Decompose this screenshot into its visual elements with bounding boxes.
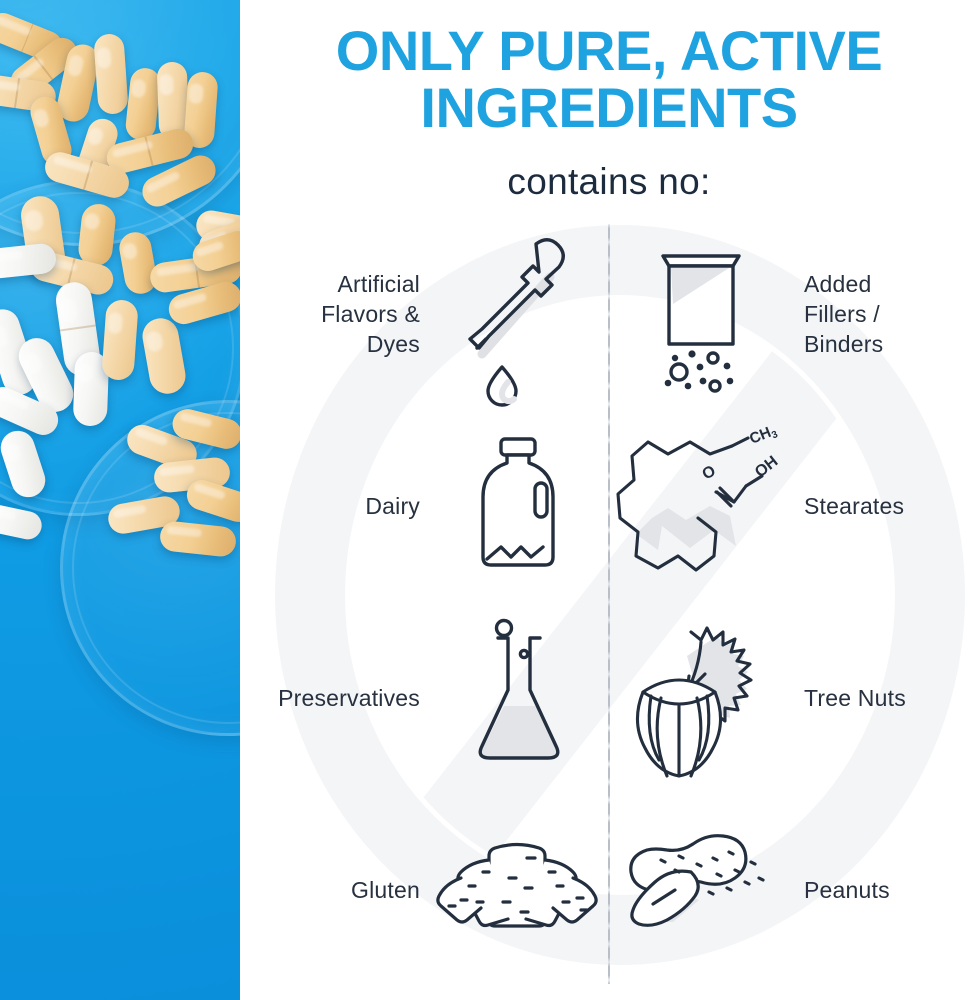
item-label: Tree Nuts [794, 683, 978, 713]
milk-jug-icon [428, 431, 609, 581]
item-stearates: CH3 O OH Stearates [609, 410, 978, 602]
item-label: Gluten [240, 875, 428, 905]
grid-row: Artificial Flavors & Dyes [240, 218, 978, 410]
item-gluten: Gluten [240, 794, 609, 986]
grid-row: Dairy [240, 410, 978, 602]
dropper-pipette-icon [428, 234, 609, 394]
excluded-ingredients-grid: Artificial Flavors & Dyes [240, 218, 978, 988]
peanuts-icon [609, 830, 794, 950]
stearic-acid-molecule-icon: CH3 O OH [609, 422, 794, 590]
headline-line-2: INGREDIENTS [240, 79, 978, 136]
item-label: Artificial Flavors & Dyes [240, 269, 428, 359]
hazelnut-leaf-icon [609, 616, 794, 781]
item-label: Added Fillers / Binders [794, 269, 978, 359]
item-dairy: Dairy [240, 410, 609, 602]
item-artificial-flavors-dyes: Artificial Flavors & Dyes [240, 218, 609, 410]
svg-text:CH3: CH3 [747, 422, 780, 450]
svg-text:O: O [699, 463, 718, 484]
capsule [93, 33, 129, 115]
powder-container-icon [609, 234, 794, 394]
item-label: Peanuts [794, 875, 978, 905]
grid-row: Gluten [240, 794, 978, 986]
page-title: ONLY PURE, ACTIVE INGREDIENTS [240, 22, 978, 136]
subtitle: contains no: [240, 162, 978, 202]
item-added-fillers-binders: Added Fillers / Binders [609, 218, 978, 410]
item-label: Dairy [240, 491, 428, 521]
capsule [101, 299, 139, 381]
croissant-icon [428, 830, 609, 950]
item-tree-nuts: Tree Nuts [609, 602, 978, 794]
headline-line-1: ONLY PURE, ACTIVE [336, 19, 882, 82]
content-panel: ONLY PURE, ACTIVE INGREDIENTS contains n… [240, 0, 978, 1000]
erlenmeyer-flask-icon [428, 618, 609, 778]
item-label: Preservatives [240, 683, 428, 713]
capsules-photo [0, 0, 240, 1000]
grid-row: Preservatives [240, 602, 978, 794]
infographic-canvas: ONLY PURE, ACTIVE INGREDIENTS contains n… [0, 0, 978, 1000]
item-preservatives: Preservatives [240, 602, 609, 794]
item-peanuts: Peanuts [609, 794, 978, 986]
item-label: Stearates [794, 491, 978, 521]
svg-text:OH: OH [752, 453, 781, 481]
